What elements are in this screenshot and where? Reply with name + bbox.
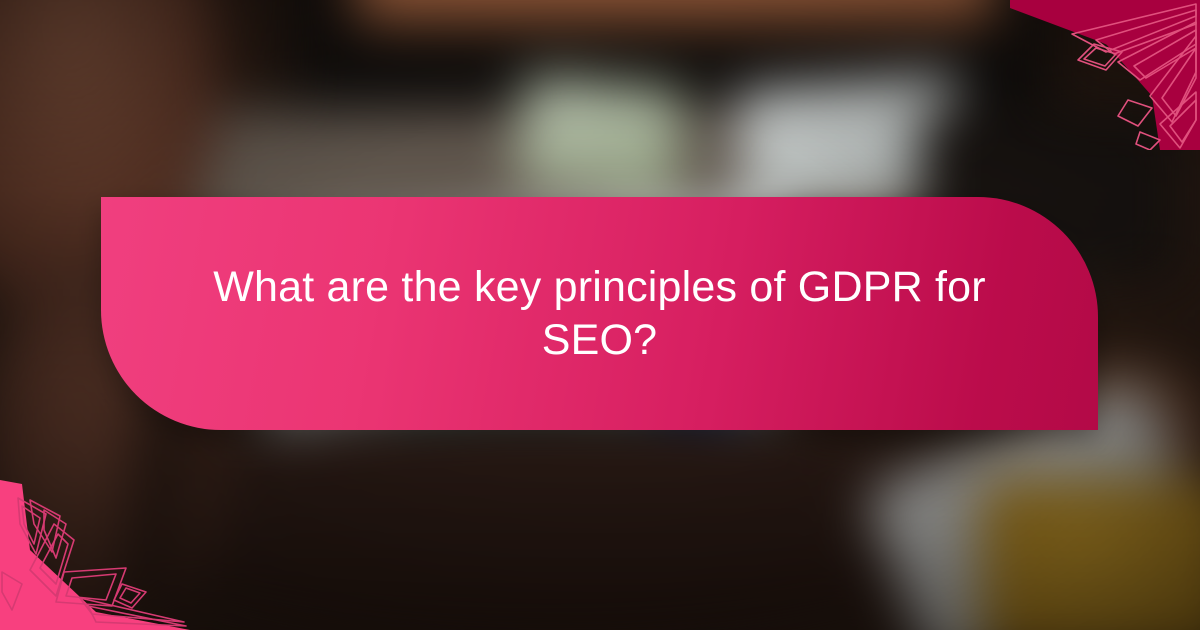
social-card: What are the key principles of GDPR for … <box>0 0 1200 630</box>
page-title: What are the key principles of GDPR for … <box>165 261 1035 366</box>
title-banner: What are the key principles of GDPR for … <box>101 197 1098 430</box>
